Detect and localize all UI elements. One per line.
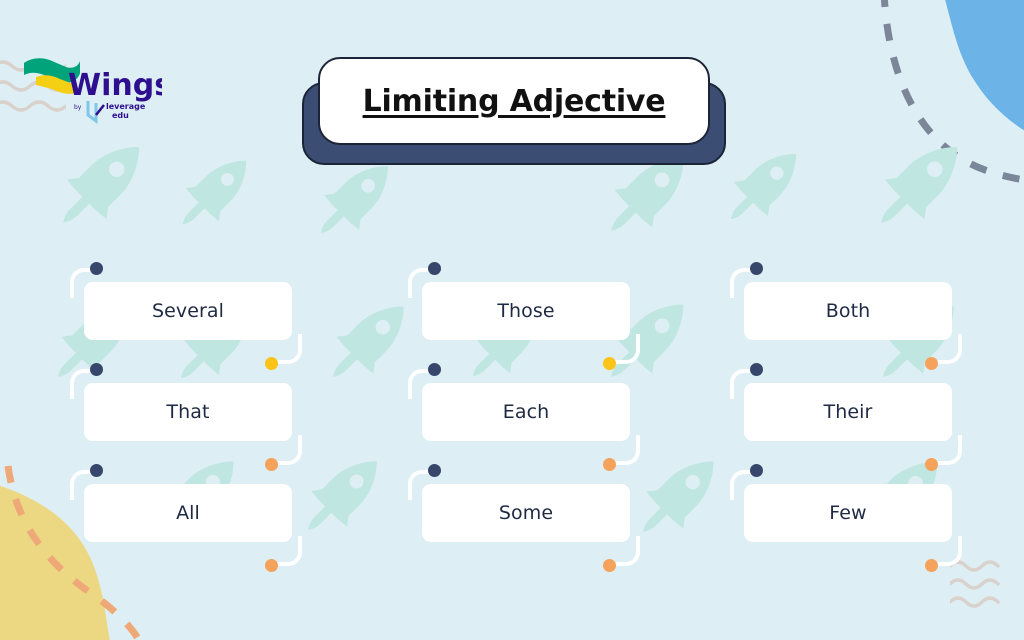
word-label: Each <box>503 401 550 423</box>
dot-marker-navy-icon <box>90 464 103 477</box>
word-cell-their[interactable]: Their <box>730 369 962 465</box>
dot-marker-navy-icon <box>750 363 763 376</box>
word-cell-several[interactable]: Several <box>70 268 302 364</box>
word-card[interactable]: Few <box>744 484 952 542</box>
dot-marker-navy-icon <box>750 464 763 477</box>
word-label: That <box>166 401 209 423</box>
word-cell-both[interactable]: Both <box>730 268 962 364</box>
word-label: Few <box>829 502 866 524</box>
dot-marker-accent-icon <box>925 559 938 572</box>
word-card[interactable]: That <box>84 383 292 441</box>
dot-marker-navy-icon <box>428 363 441 376</box>
word-label: All <box>176 502 200 524</box>
word-label: Both <box>826 300 871 322</box>
word-cell-that[interactable]: That <box>70 369 302 465</box>
word-card[interactable]: Each <box>422 383 630 441</box>
dot-marker-navy-icon <box>750 262 763 275</box>
slide-canvas: Wings by leverage edu Limiting Adjective… <box>0 0 1024 640</box>
word-card[interactable]: Some <box>422 484 630 542</box>
word-cell-few[interactable]: Few <box>730 470 962 566</box>
word-card[interactable]: Both <box>744 282 952 340</box>
dot-marker-navy-icon <box>428 464 441 477</box>
word-card[interactable]: Those <box>422 282 630 340</box>
word-card[interactable]: Several <box>84 282 292 340</box>
word-cell-some[interactable]: Some <box>408 470 640 566</box>
dot-marker-accent-icon <box>603 559 616 572</box>
dot-marker-navy-icon <box>428 262 441 275</box>
word-cell-those[interactable]: Those <box>408 268 640 364</box>
word-cell-each[interactable]: Each <box>408 369 640 465</box>
dot-marker-navy-icon <box>90 262 103 275</box>
word-grid: Several Those Both <box>0 0 1024 640</box>
word-card[interactable]: Their <box>744 383 952 441</box>
dot-marker-accent-icon <box>265 559 278 572</box>
word-label: Those <box>497 300 554 322</box>
word-label: Their <box>824 401 873 423</box>
word-card[interactable]: All <box>84 484 292 542</box>
word-cell-all[interactable]: All <box>70 470 302 566</box>
word-label: Several <box>152 300 224 322</box>
dot-marker-navy-icon <box>90 363 103 376</box>
word-label: Some <box>499 502 553 524</box>
